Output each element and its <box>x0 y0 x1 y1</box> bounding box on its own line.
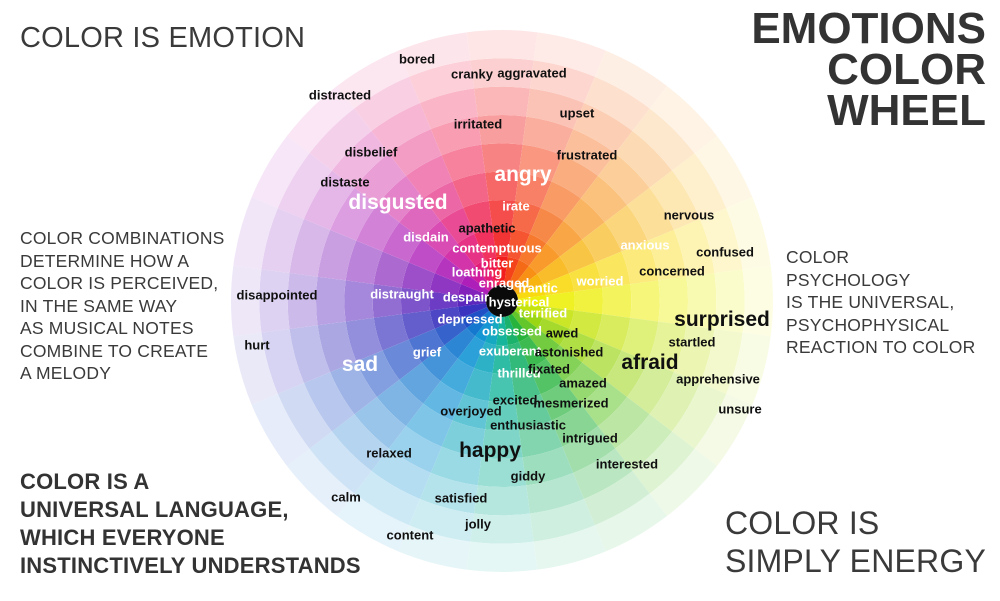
emotion-label-anxious[interactable]: anxious <box>620 238 669 253</box>
emotion-label-enthusiastic[interactable]: enthusiastic <box>490 418 566 433</box>
emotion-label-exuberant[interactable]: exuberant <box>479 344 541 359</box>
emotion-label-apprehensive[interactable]: apprehensive <box>676 372 760 387</box>
emotion-label-sad[interactable]: sad <box>342 353 378 377</box>
emotion-label-distracted[interactable]: distracted <box>309 88 371 103</box>
emotion-label-obsessed[interactable]: obsessed <box>482 324 542 339</box>
emotion-label-disappointed[interactable]: disappointed <box>237 288 318 303</box>
emotion-label-relaxed[interactable]: relaxed <box>366 446 412 461</box>
emotion-label-angry[interactable]: angry <box>494 163 551 187</box>
emotion-label-distraught[interactable]: distraught <box>370 287 434 302</box>
emotion-label-interested[interactable]: interested <box>596 457 658 472</box>
emotion-label-nervous[interactable]: nervous <box>664 208 715 223</box>
emotion-label-startled[interactable]: startled <box>669 335 716 350</box>
emotion-label-irritated[interactable]: irritated <box>454 117 502 132</box>
wheel-segment[interactable] <box>574 288 603 314</box>
emotion-label-contemptuous[interactable]: contemptuous <box>452 241 542 256</box>
emotion-label-frustrated[interactable]: frustrated <box>557 148 618 163</box>
emotion-label-distaste[interactable]: distaste <box>320 175 369 190</box>
emotion-label-satisfied[interactable]: satisfied <box>435 491 488 506</box>
emotion-label-hurt[interactable]: hurt <box>244 338 269 353</box>
emotion-label-hysterical[interactable]: hysterical <box>489 295 550 310</box>
emotion-label-loathing[interactable]: loathing <box>452 265 503 280</box>
emotion-label-bored[interactable]: bored <box>399 52 435 67</box>
wheel-segment[interactable] <box>467 542 538 572</box>
emotion-label-despair[interactable]: despair <box>443 290 489 305</box>
emotion-label-astonished[interactable]: astonished <box>535 345 604 360</box>
headline-universal-language: COLOR IS A UNIVERSAL LANGUAGE, WHICH EVE… <box>20 468 361 580</box>
emotion-label-disdain[interactable]: disdain <box>403 230 449 245</box>
emotion-label-surprised[interactable]: surprised <box>674 308 770 332</box>
headline-color-is-emotion: COLOR IS EMOTION <box>20 22 305 55</box>
blurb-color-psychology: COLOR PSYCHOLOGY IS THE UNIVERSAL, PSYCH… <box>786 246 975 359</box>
emotion-label-afraid[interactable]: afraid <box>621 351 678 375</box>
emotion-label-amazed[interactable]: amazed <box>559 376 607 391</box>
headline-simply-energy: COLOR IS SIMPLY ENERGY <box>725 504 986 580</box>
emotion-label-disbelief[interactable]: disbelief <box>345 145 398 160</box>
emotion-label-grief[interactable]: grief <box>413 345 441 360</box>
emotion-label-giddy[interactable]: giddy <box>511 469 546 484</box>
emotion-label-mesmerized[interactable]: mesmerized <box>533 396 608 411</box>
emotion-label-upset[interactable]: upset <box>560 106 595 121</box>
emotion-label-happy[interactable]: happy <box>459 439 521 463</box>
blurb-color-combinations: COLOR COMBINATIONS DETERMINE HOW A COLOR… <box>20 227 225 385</box>
emotion-label-cranky[interactable]: cranky <box>451 67 493 82</box>
wheel-segment[interactable] <box>630 280 659 321</box>
page-title: EMOTIONS COLOR WHEEL <box>751 8 986 131</box>
emotion-label-unsure[interactable]: unsure <box>718 402 761 417</box>
emotion-label-worried[interactable]: worried <box>577 274 624 289</box>
emotion-label-disgusted[interactable]: disgusted <box>348 191 447 215</box>
emotion-label-apathetic[interactable]: apathetic <box>458 221 515 236</box>
emotion-label-intrigued[interactable]: intrigued <box>562 431 618 446</box>
wheel-segment[interactable] <box>316 277 346 326</box>
emotion-label-jolly[interactable]: jolly <box>465 517 491 532</box>
emotion-label-aggravated[interactable]: aggravated <box>497 66 566 81</box>
emotion-label-confused[interactable]: confused <box>696 245 754 260</box>
poster-canvas: angryirateenragedirritatedcrankyaggravat… <box>0 0 1000 601</box>
emotion-label-fixated[interactable]: fixated <box>528 362 570 377</box>
emotion-label-frantic[interactable]: frantic <box>518 281 558 296</box>
wheel-segment[interactable] <box>467 30 538 60</box>
wheel-segment[interactable] <box>602 284 631 318</box>
emotion-label-irate[interactable]: irate <box>502 199 529 214</box>
emotion-label-excited[interactable]: excited <box>493 393 538 408</box>
emotion-label-awed[interactable]: awed <box>546 326 579 341</box>
emotion-label-content[interactable]: content <box>387 528 434 543</box>
emotion-label-concerned[interactable]: concerned <box>639 264 705 279</box>
wheel-segment[interactable] <box>474 87 530 117</box>
